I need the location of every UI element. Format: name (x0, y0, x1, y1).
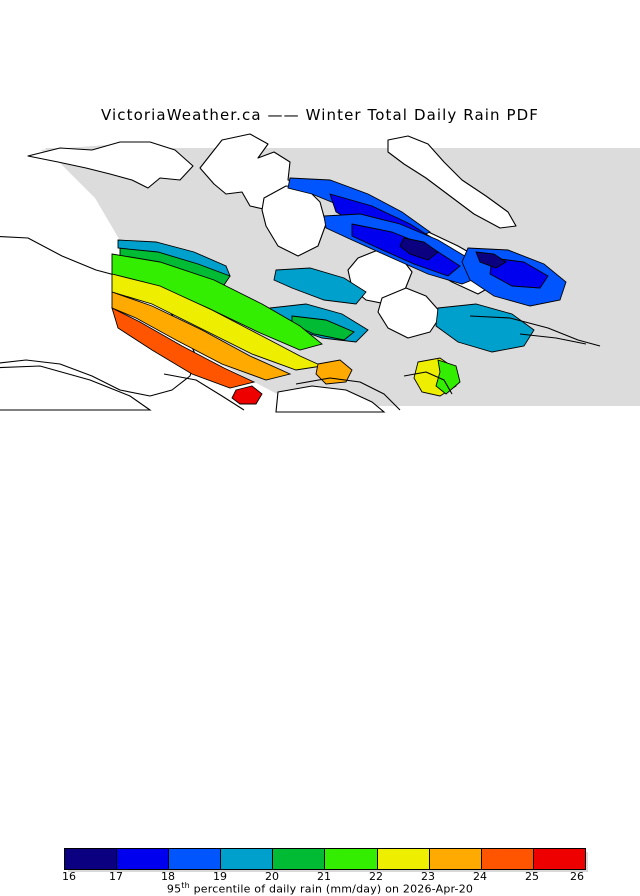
map-canvas (0, 128, 640, 413)
colorbar-band-18-19 (169, 849, 221, 869)
colorbar-band-21-22 (325, 849, 377, 869)
colorbar-band-24-25 (482, 849, 534, 869)
contour-25-26-maximum (232, 386, 262, 404)
colorbar-band-22-23 (378, 849, 430, 869)
map-panel (0, 128, 640, 413)
colorbar-band-19-20 (221, 849, 273, 869)
colorbar-band-17-18 (117, 849, 169, 869)
colorbar-caption: 95th percentile of daily rain (mm/day) o… (0, 881, 640, 896)
caption-superscript: th (181, 881, 190, 890)
colorbar: 1617181920212223242526 95th percentile o… (0, 420, 640, 480)
colorbar-band-23-24 (430, 849, 482, 869)
colorbar-band-20-21 (273, 849, 325, 869)
colorbar-band-25-26 (534, 849, 585, 869)
weather-map-page: VictoriaWeather.ca —— Winter Total Daily… (0, 0, 640, 480)
colorbar-band-16-17 (65, 849, 117, 869)
page-title: VictoriaWeather.ca —— Winter Total Daily… (0, 106, 640, 124)
colorbar-bands (64, 848, 586, 870)
